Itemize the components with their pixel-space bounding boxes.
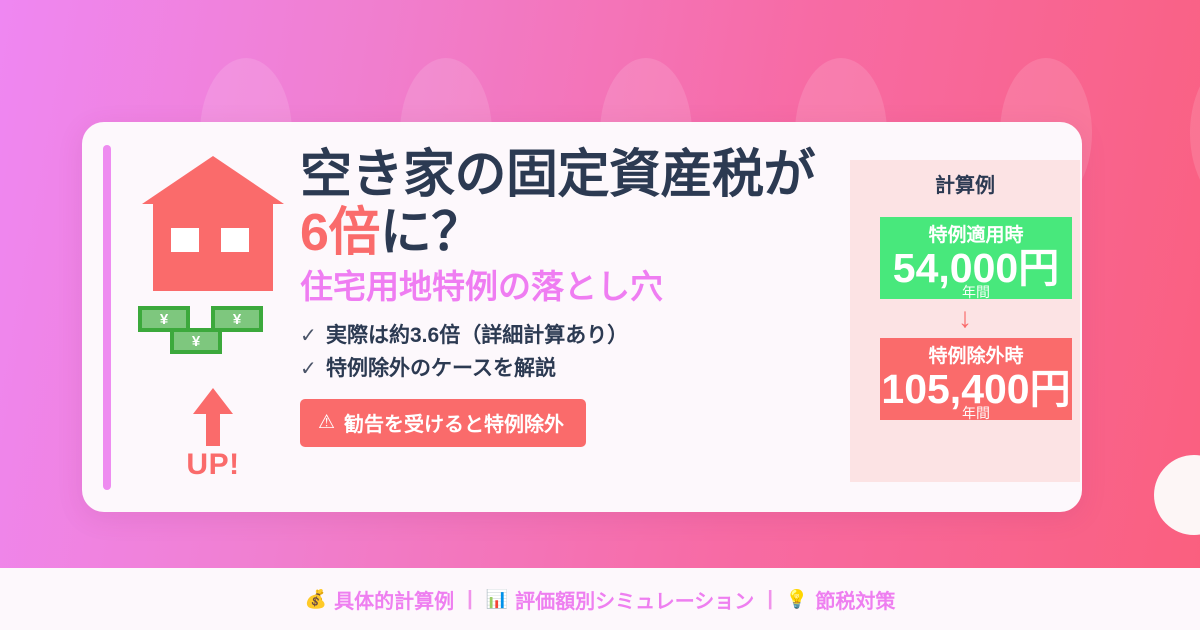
subtitle: 住宅用地特例の落とし穴 <box>300 268 860 306</box>
money-bills-icon: ¥ ¥ ¥ <box>138 306 288 364</box>
status-badge-label: 勧告を受けると特例除外 <box>344 408 564 437</box>
warning-icon: ⚠ <box>318 411 335 434</box>
bar-chart-icon: 📊 <box>486 589 508 610</box>
page-title-line2: 6倍に？ <box>300 205 860 262</box>
page-title: 空き家の固定資産税が <box>300 148 860 203</box>
check-icon: ✓ <box>300 354 326 385</box>
calculation-panel: 計算例 特例適用時 54,000円 年間 ↓ 特例除外時 105,400円 年間 <box>850 160 1080 482</box>
arrow-head <box>193 388 233 414</box>
bullet-list: ✓ 実際は約3.6倍（詳細計算あり） ✓ 特例除外のケースを解説 <box>300 320 860 385</box>
multiplier-highlight: 6倍 <box>300 204 380 262</box>
list-item: ✓ 実際は約3.6倍（詳細計算あり） <box>300 320 860 353</box>
bottom-bar-item-calculation[interactable]: 💰 具体的計算例 <box>305 585 454 614</box>
check-icon: ✓ <box>300 321 326 352</box>
calc-row-special-excluded: 特例除外時 105,400円 年間 <box>880 338 1072 420</box>
lightbulb-icon: 💡 <box>786 589 808 610</box>
bottom-bar-item-tax-saving[interactable]: 💡 節税対策 <box>786 585 895 614</box>
calc-row-period: 年間 <box>880 406 1072 420</box>
bottom-bar-item-simulation[interactable]: 📊 評価額別シミュレーション <box>486 585 755 614</box>
separator: | <box>767 588 773 611</box>
down-arrow-icon: ↓ <box>850 304 1080 332</box>
banner-root: ¥ ¥ ¥ UP! 空き家の固定資産税が 6倍に？ 住宅用地特例の落とし穴 ✓ … <box>0 0 1200 630</box>
calc-row-special-applied: 特例適用時 54,000円 年間 <box>880 217 1072 299</box>
bottom-bar-items: 💰 具体的計算例 | 📊 評価額別シミュレーション | 💡 節税対策 <box>305 585 896 614</box>
accent-bar <box>103 145 111 490</box>
up-label: UP! <box>158 450 268 480</box>
house-window <box>171 228 199 252</box>
list-item-label: 特例除外のケースを解説 <box>326 353 556 386</box>
house-icon <box>142 156 284 291</box>
up-arrow-icon <box>193 388 233 446</box>
calc-row-label: 特例除外時 <box>880 338 1072 366</box>
multiplier-suffix: に？ <box>380 204 483 262</box>
yen-bill: ¥ <box>170 328 222 354</box>
corner-accent-circle <box>1154 455 1200 535</box>
bottom-bar-item-label: 具体的計算例 <box>334 585 454 614</box>
calculation-panel-title: 計算例 <box>850 160 1080 196</box>
bottom-bar: 💰 具体的計算例 | 📊 評価額別シミュレーション | 💡 節税対策 <box>0 568 1200 630</box>
bottom-bar-item-label: 評価額別シミュレーション <box>515 585 754 614</box>
calc-row-label: 特例適用時 <box>880 217 1072 245</box>
list-item-label: 実際は約3.6倍（詳細計算あり） <box>326 320 628 353</box>
money-bag-icon: 💰 <box>305 589 327 610</box>
arrow-stem <box>206 412 220 446</box>
house-roof <box>142 156 284 204</box>
status-badge: ⚠ 勧告を受けると特例除外 <box>300 399 586 447</box>
house-window <box>221 228 249 252</box>
list-item: ✓ 特例除外のケースを解説 <box>300 353 860 386</box>
calc-row-period: 年間 <box>880 285 1072 299</box>
separator: | <box>467 588 473 611</box>
background-blob <box>1190 58 1200 208</box>
up-arrow-group: UP! <box>158 388 268 493</box>
bottom-bar-item-label: 節税対策 <box>815 585 895 614</box>
main-card: ¥ ¥ ¥ UP! 空き家の固定資産税が 6倍に？ 住宅用地特例の落とし穴 ✓ … <box>82 122 1082 512</box>
illustration-column: ¥ ¥ ¥ UP! <box>120 146 305 494</box>
headline-column: 空き家の固定資産税が 6倍に？ 住宅用地特例の落とし穴 ✓ 実際は約3.6倍（詳… <box>300 148 860 447</box>
